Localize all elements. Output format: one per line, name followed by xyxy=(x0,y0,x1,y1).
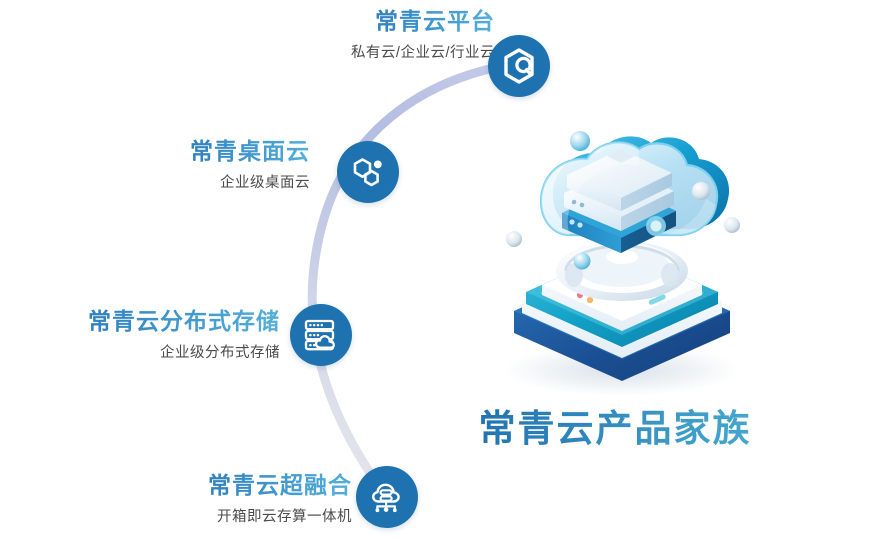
hex-logo-icon[interactable] xyxy=(488,35,550,97)
product-subtitle-platform: 私有云/企业云/行业云 xyxy=(351,45,495,62)
product-subtitle-desktop-cloud: 企业级桌面云 xyxy=(220,175,310,192)
poster-canvas: 常青云平台 私有云/企业云/行业云 常青桌面云 企业级桌面云 常青云分布式存储 … xyxy=(0,0,869,554)
product-item-distributed-storage[interactable]: 常青云分布式存储 企业级分布式存储 xyxy=(68,308,280,362)
cloud-network-icon[interactable] xyxy=(356,466,418,528)
product-item-desktop-cloud[interactable]: 常青桌面云 企业级桌面云 xyxy=(160,138,310,192)
product-subtitle-hyper-converged: 开箱即云存算一体机 xyxy=(217,509,352,526)
product-title-distributed-storage: 常青云分布式存储 xyxy=(88,308,280,336)
server-cloud-icon[interactable] xyxy=(290,304,352,366)
product-title-platform: 常青云平台 xyxy=(375,8,495,36)
hexagon-nodes-icon[interactable] xyxy=(337,141,399,203)
3d-cloud-server-platform xyxy=(470,125,770,395)
product-item-hyper-converged[interactable]: 常青云超融合 开箱即云存算一体机 xyxy=(188,472,352,526)
product-item-platform[interactable]: 常青云平台 私有云/企业云/行业云 xyxy=(300,8,495,62)
page-title: 常青云产品家族 xyxy=(455,398,775,452)
product-subtitle-distributed-storage: 企业级分布式存储 xyxy=(160,345,280,362)
product-title-desktop-cloud: 常青桌面云 xyxy=(190,138,310,166)
product-title-hyper-converged: 常青云超融合 xyxy=(208,472,352,500)
